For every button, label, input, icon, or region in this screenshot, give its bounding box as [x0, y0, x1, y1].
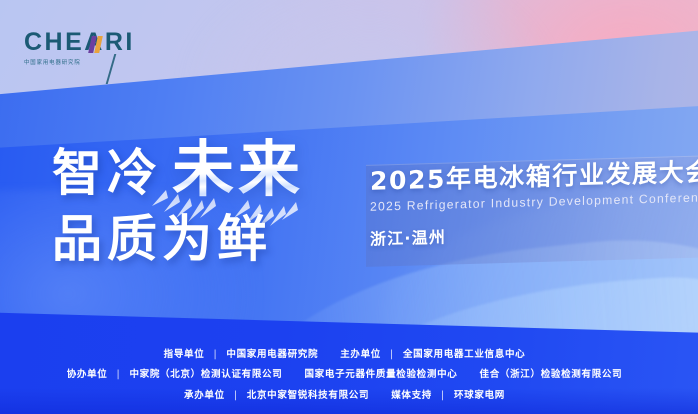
- slogan-text-zhileng: 智冷: [52, 148, 162, 198]
- credit-segment: 指导单位 | 中国家用电器研究院: [164, 349, 323, 360]
- logo-subtitle: 中国家用电器研究院: [24, 58, 164, 66]
- credit-label: 主办单位: [340, 349, 381, 360]
- credit-segment: 国家电子元器件质量检验检测中心: [304, 369, 461, 380]
- credit-separator: |: [390, 349, 394, 360]
- cheari-logo[interactable]: CHEARI 中国家用电器研究院: [24, 30, 164, 72]
- credit-separator: |: [234, 390, 238, 401]
- credit-segment: 佳合（浙江）检验检测有限公司: [480, 369, 623, 380]
- credit-segment: 承办单位 | 北京中家智锐科技有限公司: [184, 390, 373, 401]
- credit-segment: 主办单位 | 全国家用电器工业信息中心: [340, 349, 525, 360]
- credit-value: 环球家电网: [454, 390, 505, 401]
- credit-value: 中家院（北京）检测认证有限公司: [129, 369, 282, 380]
- slogan-text-pinzhiweixian: 品质为鲜: [52, 214, 272, 264]
- slogan-text-weilai: 未来: [172, 138, 304, 200]
- credit-segment: 协办单位 | 中家院（北京）检测认证有限公司: [67, 369, 287, 380]
- credit-value: 全国家用电器工业信息中心: [403, 349, 525, 360]
- credit-label: 指导单位: [164, 349, 205, 360]
- credit-value: 国家电子元器件质量检验检测中心: [304, 369, 457, 380]
- credit-separator: |: [441, 390, 445, 401]
- credit-row-2: 协办单位 | 中家院（北京）检测认证有限公司 国家电子元器件质量检验检测中心 佳…: [0, 370, 698, 380]
- credit-row-1: 指导单位 | 中国家用电器研究院 主办单位 | 全国家用电器工业信息中心: [0, 350, 698, 360]
- credits-block: 指导单位 | 中国家用电器研究院 主办单位 | 全国家用电器工业信息中心 协办单…: [0, 350, 698, 401]
- slogan-line-2: 品质为鲜: [52, 214, 304, 264]
- credit-label: 媒体支持: [391, 390, 432, 401]
- credit-segment: 媒体支持 | 环球家电网: [391, 390, 505, 401]
- credit-separator: |: [117, 369, 121, 380]
- credit-separator: |: [213, 349, 217, 360]
- credit-label: 承办单位: [184, 390, 225, 401]
- credit-label: 协办单位: [67, 369, 108, 380]
- slogan-block: 智冷 未来 品质为鲜: [52, 138, 304, 264]
- credit-value: 北京中家智锐科技有限公司: [247, 390, 369, 401]
- credit-row-3: 承办单位 | 北京中家智锐科技有限公司 媒体支持 | 环球家电网: [0, 391, 698, 401]
- conference-poster: CHEARI 中国家用电器研究院 智冷 未来 品质为鲜: [0, 0, 698, 414]
- slogan-line-1: 智冷 未来: [52, 138, 304, 200]
- credit-value: 中国家用电器研究院: [226, 349, 318, 360]
- conference-title-block: 2025年电冰箱行业发展大会 2025 Refrigerator Industr…: [370, 157, 698, 249]
- credit-value: 佳合（浙江）检验检测有限公司: [480, 369, 623, 380]
